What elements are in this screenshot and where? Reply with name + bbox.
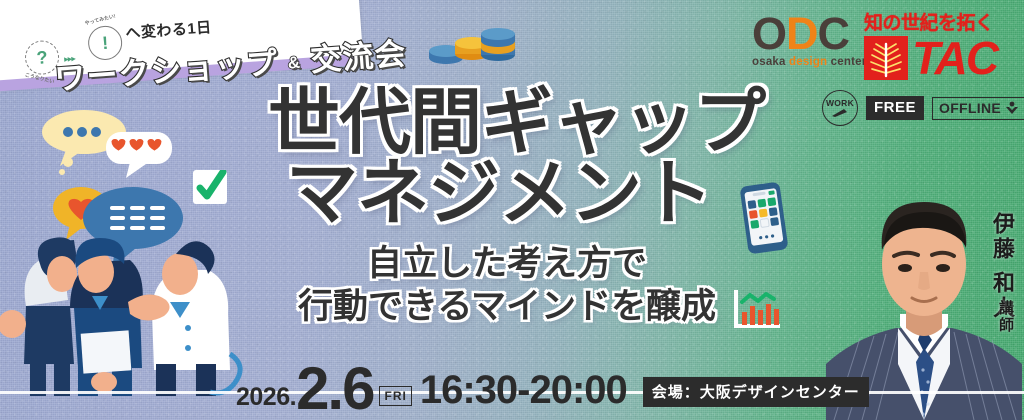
title-line-1: 世代間ギャップ [268,88,788,159]
tac-logo: 知の世紀を拓く TAC [864,8,997,80]
workshop-title-amp: & [287,53,302,73]
odc-letter-o: O [752,8,786,59]
odc-subtitle: osaka design center [752,56,866,68]
odc-letter-d: D [786,8,818,59]
tac-tagline: 知の世紀を拓く [864,8,997,35]
subtitle-line-1: 自立した考え方で [272,243,742,286]
bar-chart-icon [730,286,784,337]
header-card-content: ? ▸▸▸ ! こうなりたい やってみたい! へ変わる1日 ワークショップ & … [4,0,369,89]
badge-offline: OFFLINE [932,97,1024,120]
badge-work: WORK [822,90,858,126]
person-right [128,241,240,396]
tac-wordmark: TAC [912,39,997,78]
odc-sub-center: center [827,56,866,68]
date-day: 2.6 [296,363,373,416]
badge-work-label: WORK [826,98,854,108]
odc-logo: ODC osaka design center [752,14,866,68]
odc-letter-c: C [818,8,850,59]
venue-badge: 会場：大阪デザインセンター [643,377,869,407]
odc-sub-design: design [789,56,827,68]
subtitle-line-2: 行動できるマインドを醸成 [272,286,742,329]
workshop-title-part2: 交流会 [309,36,407,78]
date-dayofweek: FRI [379,386,411,406]
event-banner: ? ▸▸▸ ! こうなりたい やってみたい! へ変わる1日 ワークショップ & … [0,0,1024,420]
date-year: 2026. [236,383,296,416]
workshop-title-part1: ワークショップ [53,45,279,96]
date-bar: 2026. 2.6 FRI 16:30-20:00 会場：大阪デザインセンター [236,363,869,416]
odc-letters: ODC [752,14,866,55]
date-time: 16:30-20:00 [420,368,627,416]
smartphone-icon [736,180,792,261]
people-illustration [0,96,250,396]
odc-sub-osaka: osaka [752,56,789,68]
person-center [70,238,143,396]
badge-row: WORK FREE OFFLINE [822,90,1024,126]
person-icon [1004,101,1020,115]
title-line-2: マネジメント [268,159,788,230]
coins-icon [428,22,516,75]
speaker-role: 講師 [995,300,1016,334]
badge-offline-label: OFFLINE [939,100,1001,116]
subtitle: 自立した考え方で 行動できるマインドを醸成 [272,243,742,328]
person-left [0,237,77,396]
tac-row: TAC [864,36,997,80]
micro-text-right: やってみたい! [84,12,116,26]
header-kicker: へ変わる1日 [125,16,213,43]
badge-free: FREE [866,96,924,120]
pen-icon [830,108,850,118]
main-title: 世代間ギャップ マネジメント [268,88,788,231]
tac-mark-icon [864,36,908,80]
checkmark-icon [193,170,227,204]
